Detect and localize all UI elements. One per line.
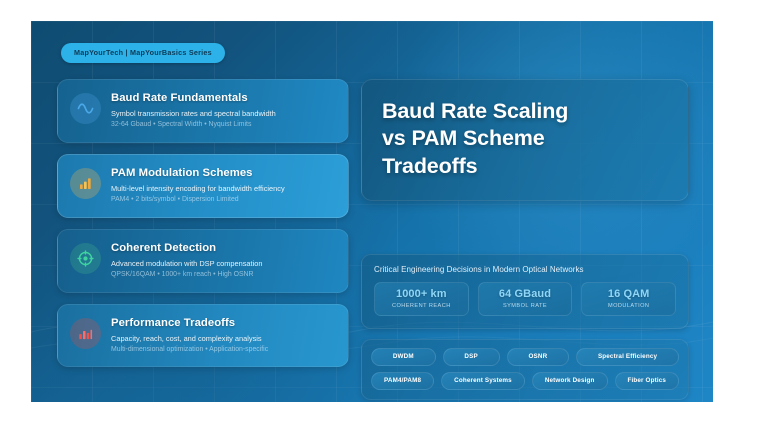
sine-wave-icon [70,93,101,124]
feature-card-subtitle: Symbol transmission rates and spectral b… [111,109,336,118]
stat-label: MODULATION [586,303,671,309]
stat-card-coherent-reach[interactable]: 1000+ km COHERENT REACH [374,282,469,316]
series-badge[interactable]: MapYourTech | MapYourBasics Series [61,43,225,63]
stat-card-symbol-rate[interactable]: 64 GBaud SYMBOL RATE [478,282,573,316]
tag-osnr[interactable]: OSNR [507,348,569,366]
tags-row-2: PAM4/PAM8 Coherent Systems Network Desig… [371,372,679,390]
feature-card-title: Performance Tradeoffs [111,317,336,330]
feature-card-performance-tradeoffs[interactable]: Performance Tradeoffs Capacity, reach, c… [57,304,349,368]
tag-network-design[interactable]: Network Design [532,372,608,390]
tag-coherent-systems[interactable]: Coherent Systems [441,372,525,390]
stat-card-modulation[interactable]: 16 QAM MODULATION [581,282,676,316]
feature-card-subtitle: Capacity, reach, cost, and complexity an… [111,334,336,343]
feature-card-pam-modulation-schemes[interactable]: PAM Modulation Schemes Multi-level inten… [57,154,349,218]
stats-row: 1000+ km COHERENT REACH 64 GBaud SYMBOL … [374,282,676,316]
feature-card-text: PAM Modulation Schemes Multi-level inten… [111,166,336,205]
stat-value: 1000+ km [379,288,464,300]
feature-card-title: PAM Modulation Schemes [111,167,336,180]
tag-fiber-optics[interactable]: Fiber Optics [615,372,680,390]
performance-scale-icon [70,318,101,349]
feature-card-meta: Multi-dimensional optimization • Applica… [111,346,336,355]
feature-card-title: Coherent Detection [111,242,336,255]
page-title: Baud Rate Scaling vs PAM Scheme Tradeoff… [382,98,668,180]
feature-card-coherent-detection[interactable]: Coherent Detection Advanced modulation w… [57,229,349,293]
tags-panel: DWDM DSP OSNR Spectral Efficiency PAM4/P… [361,339,689,400]
feature-card-text: Coherent Detection Advanced modulation w… [111,241,336,280]
feature-card-baud-rate-fundamentals[interactable]: Baud Rate Fundamentals Symbol transmissi… [57,79,349,143]
feature-card-title: Baud Rate Fundamentals [111,92,336,105]
stat-value: 64 GBaud [483,288,568,300]
feature-card-meta: PAM4 • 2 bits/symbol • Dispersion Limite… [111,196,336,205]
tag-dwdm[interactable]: DWDM [371,348,436,366]
feature-card-subtitle: Advanced modulation with DSP compensatio… [111,259,336,268]
crosshair-target-icon [70,243,101,274]
bar-chart-icon [70,168,101,199]
stats-heading: Critical Engineering Decisions in Modern… [374,265,676,274]
tags-row-1: DWDM DSP OSNR Spectral Efficiency [371,348,679,366]
tag-spectral-efficiency[interactable]: Spectral Efficiency [576,348,679,366]
tag-pam4-pam8[interactable]: PAM4/PAM8 [371,372,434,390]
tag-dsp[interactable]: DSP [443,348,500,366]
stat-label: COHERENT REACH [379,303,464,309]
feature-card-text: Performance Tradeoffs Capacity, reach, c… [111,316,336,355]
slide-canvas: MapYourTech | MapYourBasics Series Baud … [31,21,713,402]
stats-panel: Critical Engineering Decisions in Modern… [361,254,689,329]
feature-card-meta: QPSK/16QAM • 1000+ km reach • High OSNR [111,271,336,280]
feature-card-subtitle: Multi-level intensity encoding for bandw… [111,184,336,193]
feature-card-meta: 32-64 Gbaud • Spectral Width • Nyquist L… [111,121,336,130]
stat-label: SYMBOL RATE [483,303,568,309]
feature-card-text: Baud Rate Fundamentals Symbol transmissi… [111,91,336,130]
right-column: Baud Rate Scaling vs PAM Scheme Tradeoff… [361,79,689,400]
title-card: Baud Rate Scaling vs PAM Scheme Tradeoff… [361,79,689,201]
feature-card-list: Baud Rate Fundamentals Symbol transmissi… [57,79,349,378]
stat-value: 16 QAM [586,288,671,300]
